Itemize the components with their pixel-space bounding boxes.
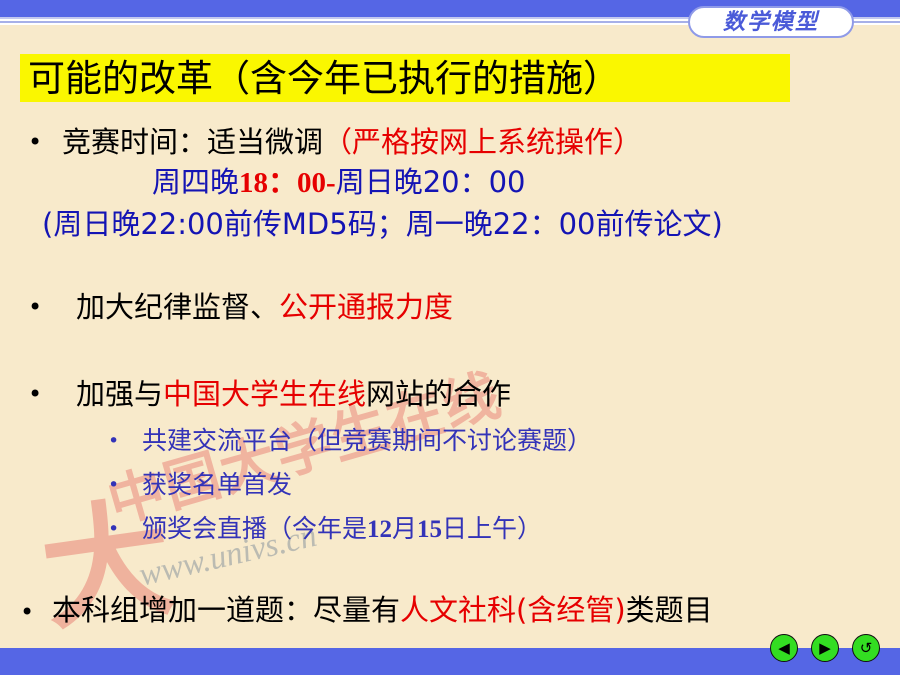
bullet-line-4: 本科组增加一道题：尽量有人文社科(含经管)类题目 [52, 596, 713, 625]
bullet-2-segment-2: 公开通报力度 [279, 290, 453, 324]
competition-time-line: 周四晚18：00-周日晚20：00 [152, 168, 526, 198]
bullet-3-segment-3: 网站的合作 [366, 377, 511, 411]
presentation-slide: 数学模型 可能的改革（含今年已执行的措施） 大 中国大学生在线 www.univ… [0, 0, 900, 675]
page-title: 可能的改革（含今年已执行的措施） [20, 60, 620, 97]
time-part-a: 周四晚 [152, 165, 239, 199]
sub-bullet-3-part-a: 颁奖会直播（今年是 [142, 514, 367, 543]
bullet-marker-3: • [28, 382, 42, 406]
sub-bullet-marker-3: • [108, 520, 119, 539]
return-arrow-icon: ↺ [860, 641, 873, 656]
bullet-marker-1: • [28, 130, 42, 154]
sub-bullet-3-part-c: 月 [392, 514, 417, 543]
bullet-1-segment-2: （严格按网上系统操作） [323, 125, 642, 159]
bullet-4-segment-1: 本科组增加一道题：尽量有 [52, 593, 400, 627]
course-logo-label: 数学模型 [723, 11, 819, 33]
bullet-4-segment-2: 人文社科(含经管) [400, 593, 626, 627]
sub-bullet-line-2: 获奖名单首发 [142, 472, 292, 497]
bullet-1-segment-1: 竞赛时间：适当微调 [62, 125, 323, 159]
sub-bullet-3-day: 15 [417, 516, 442, 543]
return-button[interactable]: ↺ [852, 634, 880, 662]
sub-bullet-marker-1: • [108, 432, 119, 451]
sub-bullet-line-1: 共建交流平台（但竞赛期间不讨论赛题） [142, 428, 592, 453]
slide-navigation: ◀ ▶ ↺ [770, 634, 880, 662]
sub-bullet-3-month: 12 [367, 516, 392, 543]
sub-bullet-3-part-e: 日上午） [442, 514, 542, 543]
bullet-4-segment-3: 类题目 [626, 593, 713, 627]
bullet-marker-2: • [28, 295, 42, 319]
sub-bullet-marker-2: • [108, 476, 119, 495]
next-slide-button[interactable]: ▶ [811, 634, 839, 662]
bullet-3-segment-1: 加强与 [76, 377, 163, 411]
course-logo-badge: 数学模型 [688, 6, 854, 38]
bullet-3-segment-2: 中国大学生在线 [163, 377, 366, 411]
bullet-line-3: 加强与中国大学生在线网站的合作 [76, 380, 511, 409]
bullet-line-2: 加大纪律监督、公开通报力度 [76, 293, 453, 322]
bullet-marker-4: • [20, 600, 34, 624]
bullet-2-segment-1: 加大纪律监督、 [76, 290, 279, 324]
slide-title-band: 可能的改革（含今年已执行的措施） [20, 54, 790, 102]
upload-deadline-line: (周日晚22:00前传MD5码；周一晚22：00前传论文) [42, 210, 723, 239]
bullet-line-1: 竞赛时间：适当微调（严格按网上系统操作） [62, 128, 642, 157]
bottom-decorative-bar [0, 648, 900, 675]
next-arrow-icon: ▶ [819, 641, 831, 656]
previous-slide-button[interactable]: ◀ [770, 634, 798, 662]
time-part-b: 18：00- [239, 167, 336, 199]
sub-bullet-line-3: 颁奖会直播（今年是12月15日上午） [142, 516, 542, 542]
previous-arrow-icon: ◀ [778, 641, 790, 656]
time-part-c: 周日晚20：00 [336, 165, 526, 199]
